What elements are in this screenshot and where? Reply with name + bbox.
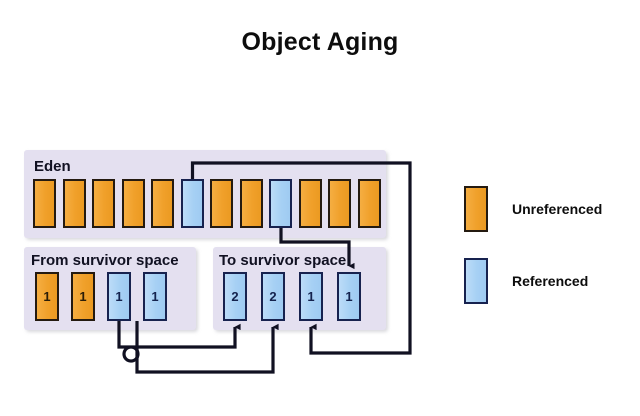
to-survivor-block[interactable]: 1 (337, 272, 361, 321)
from-survivor-label: From survivor space (31, 252, 179, 269)
from-survivor-block[interactable]: 1 (35, 272, 59, 321)
eden-block[interactable] (358, 179, 381, 228)
to-survivor-label: To survivor space (219, 252, 346, 269)
eden-block[interactable] (151, 179, 174, 228)
from-survivor-block[interactable]: 1 (143, 272, 167, 321)
eden-block[interactable] (299, 179, 322, 228)
eden-block[interactable] (122, 179, 145, 228)
from-survivor-block[interactable]: 1 (71, 272, 95, 321)
eden-block[interactable] (269, 179, 292, 228)
object-aging-diagram: Object Aging Eden From survivor space To… (0, 0, 640, 416)
eden-block[interactable] (92, 179, 115, 228)
legend-row-referenced: Referenced (464, 258, 588, 304)
to-survivor-block[interactable]: 2 (261, 272, 285, 321)
legend-swatch-referenced-icon (464, 258, 488, 304)
eden-block[interactable] (63, 179, 86, 228)
eden-label: Eden (34, 158, 71, 175)
from-survivor-block[interactable]: 1 (107, 272, 131, 321)
legend-row-unreferenced: Unreferenced (464, 186, 602, 232)
to-survivor-block[interactable]: 1 (299, 272, 323, 321)
eden-block[interactable] (240, 179, 263, 228)
eden-block[interactable] (328, 179, 351, 228)
legend-swatch-unreferenced-icon (464, 186, 488, 232)
page-title: Object Aging (0, 28, 640, 57)
legend: Unreferenced Referenced (464, 186, 640, 316)
legend-label-unreferenced: Unreferenced (512, 201, 602, 217)
eden-block[interactable] (210, 179, 233, 228)
eden-block[interactable] (33, 179, 56, 228)
legend-label-referenced: Referenced (512, 273, 588, 289)
eden-block[interactable] (181, 179, 204, 228)
to-survivor-block[interactable]: 2 (223, 272, 247, 321)
